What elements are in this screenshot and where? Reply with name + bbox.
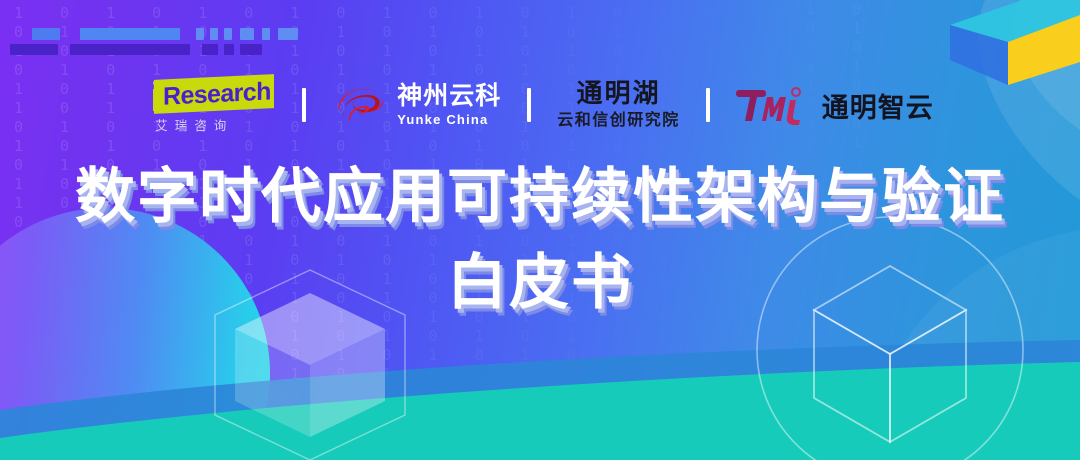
- logo-iresearch[interactable]: Research 艾瑞咨询: [146, 75, 276, 135]
- iresearch-wordmark: Research: [163, 75, 275, 112]
- wave-decoration: [0, 340, 1080, 460]
- iresearch-chinese-name: 艾瑞咨询: [155, 115, 273, 134]
- logo-tongminghu[interactable]: 通明湖 云和信创研究院: [557, 81, 680, 129]
- tmi-chinese-name: 通明智云: [822, 86, 934, 125]
- tongminghu-subtitle: 云和信创研究院: [557, 113, 680, 129]
- logo-yunke-china[interactable]: 神州云科 Yunke China: [332, 82, 501, 128]
- logo-divider-1: [302, 88, 306, 122]
- title-line-2: 白皮书: [0, 246, 1080, 320]
- logo-divider-3: [706, 88, 710, 122]
- logo-divider-2: [527, 88, 531, 122]
- yunke-chinese-name: 神州云科: [397, 84, 501, 109]
- title-line-1: 数字时代应用可持续性架构与验证: [0, 160, 1080, 234]
- partner-logo-bar: Research 艾瑞咨询 神州云科 Yunke China 通明湖 云和信创研…: [0, 74, 1080, 136]
- banner-title: 数字时代应用可持续性架构与验证 白皮书: [0, 160, 1080, 320]
- iresearch-i-stem-icon: [153, 89, 159, 111]
- whitepaper-banner: 1 0 1 0 1 0 1 0 1 0 1 0 1 0 1 0 1 0 1 0 …: [0, 0, 1080, 460]
- yunke-swirl-icon: [332, 82, 388, 128]
- dash-bar-row-light: [24, 28, 304, 40]
- isometric-bar-decoration: [950, 0, 1080, 85]
- dash-bar-row-dark: [10, 44, 300, 55]
- tongminghu-chinese-name: 通明湖: [577, 81, 661, 107]
- tmi-wordmark-icon: [736, 84, 812, 126]
- yunke-english-name: Yunke China: [397, 113, 501, 126]
- logo-tmi[interactable]: 通明智云: [736, 84, 934, 126]
